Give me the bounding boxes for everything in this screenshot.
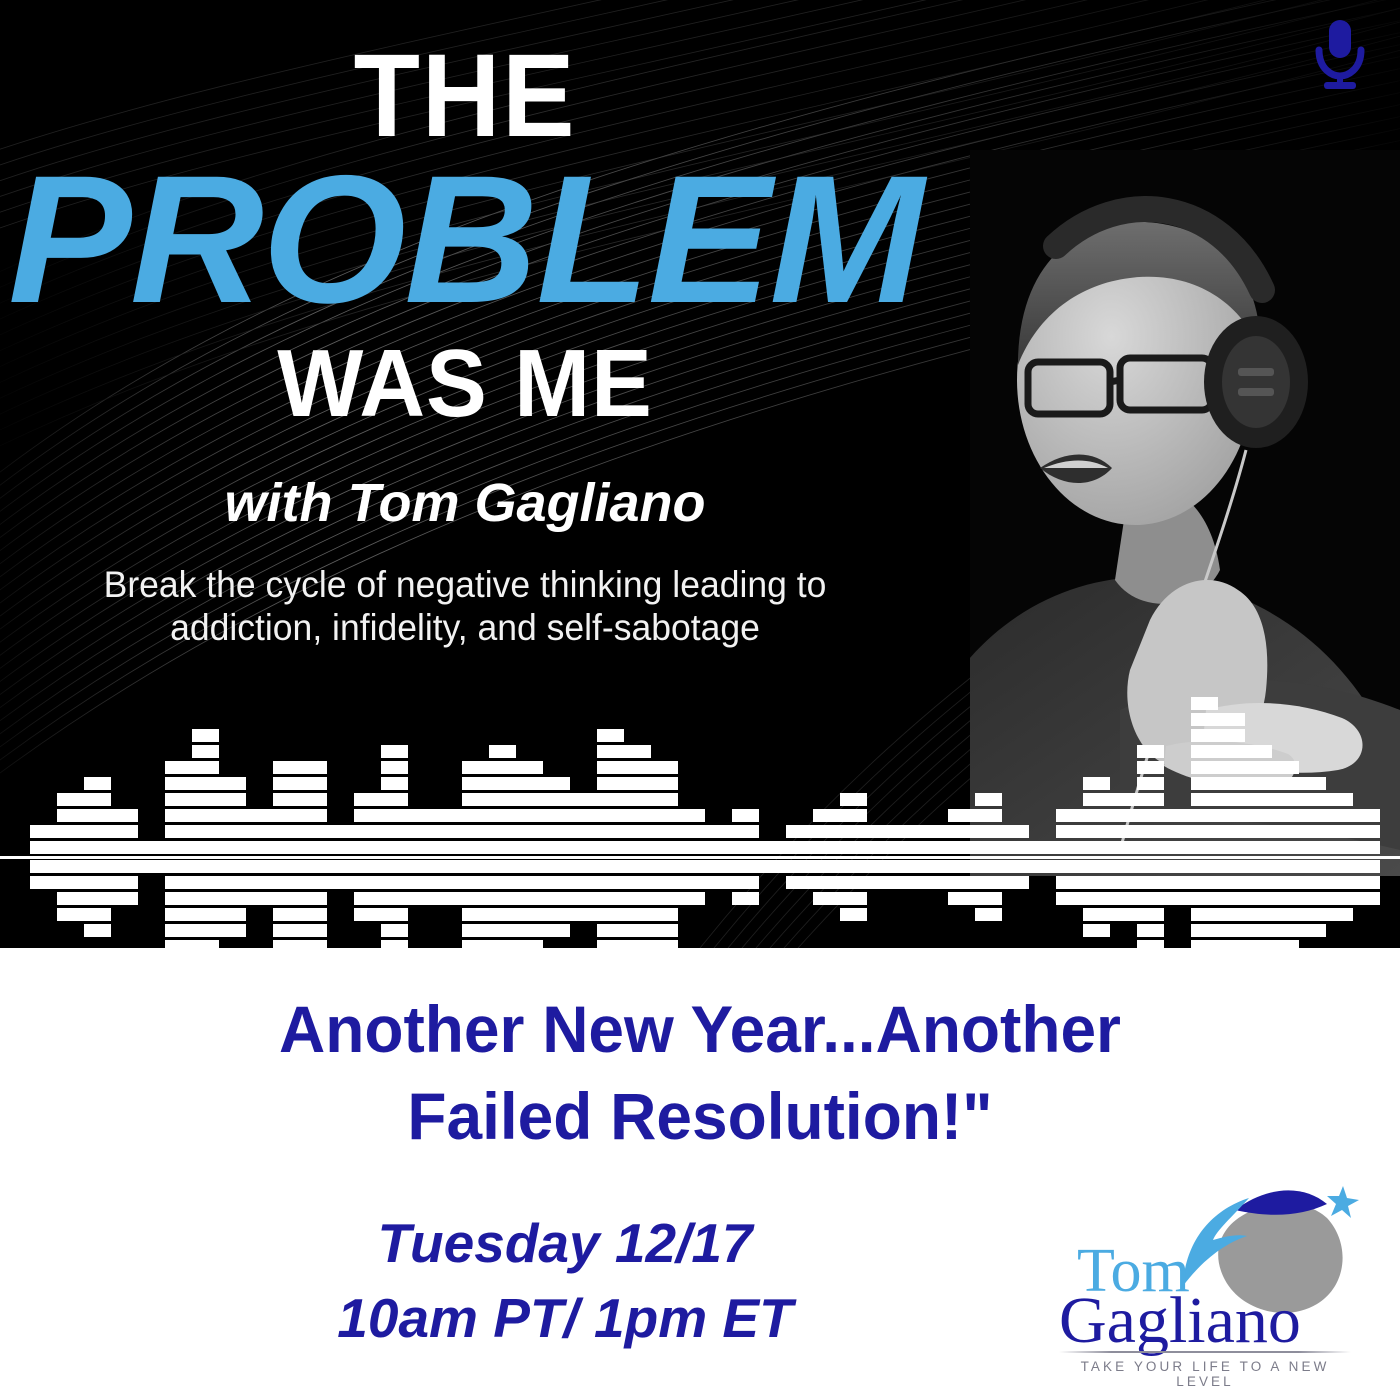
- waveform-cell: [597, 729, 624, 742]
- waveform-column: [867, 690, 894, 948]
- waveform-cell: [1191, 860, 1218, 873]
- waveform-cell: [192, 892, 219, 905]
- waveform-cell: [1218, 745, 1245, 758]
- waveform-cell: [84, 809, 111, 822]
- waveform-cell: [786, 825, 813, 838]
- waveform-cell: [489, 761, 516, 774]
- waveform-cell: [1218, 940, 1245, 948]
- waveform-cell: [975, 841, 1002, 854]
- waveform-cell: [84, 825, 111, 838]
- waveform-cell: [219, 841, 246, 854]
- waveform-cell: [300, 908, 327, 921]
- waveform-column: [246, 690, 273, 948]
- episode-title-line-2: Failed Resolution!": [79, 1073, 1321, 1160]
- waveform-cell: [651, 924, 678, 937]
- waveform-cell: [1299, 924, 1326, 937]
- waveform-cell: [543, 860, 570, 873]
- waveform-cell: [219, 777, 246, 790]
- waveform-column: [30, 690, 57, 948]
- waveform-cell: [192, 777, 219, 790]
- waveform-cell: [1326, 841, 1353, 854]
- waveform-cell: [1245, 745, 1272, 758]
- waveform-cell: [462, 892, 489, 905]
- waveform-cell: [624, 892, 651, 905]
- waveform-cell: [867, 841, 894, 854]
- waveform-cell: [462, 924, 489, 937]
- waveform-cell: [381, 940, 408, 948]
- waveform-cell: [273, 825, 300, 838]
- waveform-cell: [1083, 876, 1110, 889]
- waveform-cell: [327, 876, 354, 889]
- waveform-column: [597, 690, 624, 948]
- waveform-cell: [516, 940, 543, 948]
- waveform-cell: [57, 809, 84, 822]
- waveform-cell: [597, 825, 624, 838]
- waveform-cell: [948, 876, 975, 889]
- waveform-cell: [624, 761, 651, 774]
- waveform-cell: [813, 841, 840, 854]
- waveform-cell: [246, 876, 273, 889]
- waveform-cell: [1245, 777, 1272, 790]
- waveform-cell: [435, 892, 462, 905]
- waveform-cell: [192, 841, 219, 854]
- waveform-cell: [1083, 809, 1110, 822]
- waveform-cell: [192, 860, 219, 873]
- waveform-cell: [732, 809, 759, 822]
- waveform-cell: [300, 809, 327, 822]
- waveform-cell: [921, 860, 948, 873]
- waveform-cell: [111, 809, 138, 822]
- waveform-column: [219, 690, 246, 948]
- waveform-cell: [624, 924, 651, 937]
- waveform-cell: [1326, 860, 1353, 873]
- waveform-cell: [813, 809, 840, 822]
- waveform-cell: [678, 876, 705, 889]
- waveform-cell: [408, 876, 435, 889]
- waveform-cell: [1353, 860, 1380, 873]
- waveform-cell: [111, 892, 138, 905]
- waveform-cell: [570, 841, 597, 854]
- waveform-column: [786, 690, 813, 948]
- waveform-cell: [516, 761, 543, 774]
- waveform-cell: [1245, 876, 1272, 889]
- waveform-cell: [1272, 876, 1299, 889]
- waveform-cell: [1191, 745, 1218, 758]
- waveform-cell: [975, 876, 1002, 889]
- waveform-cell: [1326, 825, 1353, 838]
- waveform-cell: [840, 809, 867, 822]
- waveform-cell: [516, 825, 543, 838]
- waveform-cell: [1218, 777, 1245, 790]
- waveform-cell: [948, 841, 975, 854]
- waveform-cell: [948, 809, 975, 822]
- waveform-cell: [462, 809, 489, 822]
- waveform-cell: [624, 940, 651, 948]
- waveform-cell: [813, 892, 840, 905]
- waveform-cell: [1029, 860, 1056, 873]
- waveform-cell: [1245, 892, 1272, 905]
- waveform-cell: [354, 841, 381, 854]
- waveform-cell: [165, 793, 192, 806]
- waveform-cell: [192, 876, 219, 889]
- waveform-column: [678, 690, 705, 948]
- waveform-cell: [1299, 777, 1326, 790]
- waveform-column: [651, 690, 678, 948]
- waveform-cell: [462, 825, 489, 838]
- waveform-cell: [1137, 940, 1164, 948]
- waveform-cell: [354, 876, 381, 889]
- show-tagline-line-2: addiction, infidelity, and self-sabotage: [19, 607, 912, 650]
- episode-title-line-1: Another New Year...Another: [79, 986, 1321, 1073]
- waveform-cell: [300, 940, 327, 948]
- waveform-cell: [651, 809, 678, 822]
- waveform-cell: [1191, 825, 1218, 838]
- waveform-cell: [57, 793, 84, 806]
- waveform-cell: [192, 825, 219, 838]
- waveform-cell: [516, 876, 543, 889]
- waveform-cell: [165, 908, 192, 921]
- waveform-column: [1137, 690, 1164, 948]
- show-title-line-3: WAS ME: [23, 336, 907, 432]
- waveform-cell: [1218, 841, 1245, 854]
- waveform-cell: [165, 860, 192, 873]
- waveform-cell: [57, 841, 84, 854]
- show-tagline: Break the cycle of negative thinking lea…: [19, 564, 912, 650]
- waveform-cell: [219, 892, 246, 905]
- waveform-cell: [408, 825, 435, 838]
- waveform-cell: [1245, 809, 1272, 822]
- waveform-cell: [165, 777, 192, 790]
- audio-equalizer-waveform: [0, 690, 1400, 948]
- waveform-cell: [1191, 876, 1218, 889]
- waveform-cell: [489, 940, 516, 948]
- waveform-cell: [381, 825, 408, 838]
- waveform-cell: [1002, 841, 1029, 854]
- waveform-cell: [1083, 924, 1110, 937]
- waveform-cell: [462, 860, 489, 873]
- waveform-cell: [1137, 777, 1164, 790]
- waveform-cell: [1056, 841, 1083, 854]
- waveform-column: [1326, 690, 1353, 948]
- waveform-cell: [273, 940, 300, 948]
- waveform-cell: [381, 860, 408, 873]
- waveform-cell: [1326, 809, 1353, 822]
- waveform-cell: [354, 825, 381, 838]
- waveform-cell: [1299, 860, 1326, 873]
- waveform-column: [1218, 690, 1245, 948]
- waveform-cell: [975, 892, 1002, 905]
- waveform-cell: [624, 809, 651, 822]
- waveform-cell: [1110, 793, 1137, 806]
- waveform-column: [84, 690, 111, 948]
- waveform-cell: [462, 908, 489, 921]
- waveform-cell: [624, 876, 651, 889]
- waveform-cell: [1056, 876, 1083, 889]
- waveform-column: [813, 690, 840, 948]
- waveform-column: [462, 690, 489, 948]
- waveform-cell: [327, 860, 354, 873]
- waveform-cell: [543, 841, 570, 854]
- waveform-column: [1164, 690, 1191, 948]
- waveform-cell: [975, 860, 1002, 873]
- waveform-cell: [732, 841, 759, 854]
- waveform-cell: [1218, 713, 1245, 726]
- waveform-cell: [1164, 892, 1191, 905]
- waveform-cell: [543, 825, 570, 838]
- waveform-cell: [570, 876, 597, 889]
- waveform-cell: [543, 777, 570, 790]
- waveform-cell: [354, 892, 381, 905]
- waveform-cell: [705, 860, 732, 873]
- waveform-cell: [1191, 908, 1218, 921]
- waveform-cell: [165, 841, 192, 854]
- waveform-cell: [192, 940, 219, 948]
- show-title-line-2: PROBLEM: [0, 148, 939, 330]
- waveform-cell: [192, 745, 219, 758]
- waveform-cell: [165, 825, 192, 838]
- waveform-column: [381, 690, 408, 948]
- waveform-cell: [1272, 809, 1299, 822]
- waveform-cell: [84, 908, 111, 921]
- waveform-cell: [516, 908, 543, 921]
- waveform-cell: [1137, 924, 1164, 937]
- waveform-cell: [651, 841, 678, 854]
- waveform-cell: [1218, 924, 1245, 937]
- waveform-cell: [1056, 825, 1083, 838]
- waveform-cell: [165, 924, 192, 937]
- waveform-column: [111, 690, 138, 948]
- waveform-cell: [462, 761, 489, 774]
- waveform-cell: [1002, 825, 1029, 838]
- waveform-cell: [840, 841, 867, 854]
- waveform-cell: [894, 860, 921, 873]
- waveform-cell: [1110, 841, 1137, 854]
- waveform-cell: [1110, 876, 1137, 889]
- logo-divider: [1059, 1351, 1351, 1353]
- waveform-cell: [651, 860, 678, 873]
- waveform-cell: [1353, 809, 1380, 822]
- waveform-cell: [1245, 761, 1272, 774]
- waveform-cell: [1191, 809, 1218, 822]
- waveform-cell: [597, 809, 624, 822]
- waveform-cell: [1191, 924, 1218, 937]
- waveform-cell: [300, 777, 327, 790]
- waveform-cell: [1326, 892, 1353, 905]
- waveform-cell: [948, 860, 975, 873]
- waveform-column: [948, 690, 975, 948]
- waveform-column: [894, 690, 921, 948]
- waveform-cell: [462, 940, 489, 948]
- waveform-column: [300, 690, 327, 948]
- waveform-cell: [516, 809, 543, 822]
- waveform-cell: [1191, 793, 1218, 806]
- waveform-cell: [84, 793, 111, 806]
- waveform-cell: [921, 825, 948, 838]
- waveform-cell: [489, 825, 516, 838]
- waveform-cell: [219, 793, 246, 806]
- waveform-cell: [1353, 825, 1380, 838]
- waveform-cell: [516, 860, 543, 873]
- waveform-cell: [408, 841, 435, 854]
- waveform-cell: [1164, 860, 1191, 873]
- waveform-cell: [1299, 876, 1326, 889]
- waveform-cell: [138, 860, 165, 873]
- waveform-cell: [867, 825, 894, 838]
- waveform-cell: [624, 860, 651, 873]
- waveform-cell: [1353, 892, 1380, 905]
- waveform-cell: [624, 841, 651, 854]
- episode-time: 10am PT/ 1pm ET: [60, 1281, 1070, 1356]
- waveform-cell: [840, 908, 867, 921]
- waveform-cell: [678, 825, 705, 838]
- waveform-cell: [759, 841, 786, 854]
- waveform-cell: [192, 908, 219, 921]
- waveform-cell: [1245, 825, 1272, 838]
- waveform-cell: [300, 793, 327, 806]
- episode-title: Another New Year...Another Failed Resolu…: [79, 986, 1321, 1160]
- waveform-cell: [300, 924, 327, 937]
- waveform-cell: [1218, 809, 1245, 822]
- waveform-cell: [732, 860, 759, 873]
- waveform-cell: [1272, 761, 1299, 774]
- waveform-cell: [1137, 809, 1164, 822]
- waveform-cell: [867, 876, 894, 889]
- waveform-cell: [1218, 825, 1245, 838]
- waveform-cell: [84, 876, 111, 889]
- waveform-cell: [1083, 793, 1110, 806]
- waveform-cell: [597, 745, 624, 758]
- waveform-cell: [813, 860, 840, 873]
- waveform-cell: [1191, 841, 1218, 854]
- waveform-cell: [651, 793, 678, 806]
- waveform-cell: [30, 841, 57, 854]
- waveform-cell: [1245, 841, 1272, 854]
- waveform-cell: [111, 825, 138, 838]
- waveform-column: [1110, 690, 1137, 948]
- waveform-cell: [1110, 892, 1137, 905]
- waveform-cell: [354, 809, 381, 822]
- waveform-cell: [1353, 841, 1380, 854]
- waveform-cell: [489, 892, 516, 905]
- waveform-cell: [1272, 841, 1299, 854]
- waveform-cell: [597, 860, 624, 873]
- waveform-cell: [921, 841, 948, 854]
- waveform-cell: [1353, 876, 1380, 889]
- waveform-cell: [678, 860, 705, 873]
- waveform-cell: [840, 860, 867, 873]
- waveform-cell: [975, 908, 1002, 921]
- waveform-column: [543, 690, 570, 948]
- waveform-cell: [921, 876, 948, 889]
- show-tagline-line-1: Break the cycle of negative thinking lea…: [19, 564, 912, 607]
- waveform-cell: [462, 841, 489, 854]
- waveform-cell: [381, 745, 408, 758]
- waveform-column: [327, 690, 354, 948]
- waveform-cell: [1245, 940, 1272, 948]
- waveform-cell: [543, 924, 570, 937]
- waveform-cell: [408, 860, 435, 873]
- waveform-cell: [1137, 860, 1164, 873]
- waveform-cell: [354, 860, 381, 873]
- waveform-cell: [273, 777, 300, 790]
- waveform-cell: [435, 825, 462, 838]
- waveform-column: [624, 690, 651, 948]
- waveform-cell: [489, 924, 516, 937]
- waveform-cell: [1218, 729, 1245, 742]
- waveform-cell: [327, 825, 354, 838]
- waveform-column: [1299, 690, 1326, 948]
- waveform-cell: [246, 841, 273, 854]
- waveform-cell: [489, 841, 516, 854]
- waveform-cell: [1110, 825, 1137, 838]
- waveform-cell: [1137, 745, 1164, 758]
- waveform-cell: [1272, 860, 1299, 873]
- waveform-cell: [624, 777, 651, 790]
- waveform-cell: [678, 809, 705, 822]
- waveform-cell: [30, 860, 57, 873]
- waveform-cell: [1272, 825, 1299, 838]
- waveform-cell: [300, 892, 327, 905]
- waveform-cell: [1191, 761, 1218, 774]
- waveform-cell: [543, 892, 570, 905]
- waveform-cell: [300, 825, 327, 838]
- waveform-cell: [840, 793, 867, 806]
- waveform-cell: [30, 876, 57, 889]
- waveform-cell: [111, 860, 138, 873]
- waveform-cell: [1164, 841, 1191, 854]
- waveform-column: [1272, 690, 1299, 948]
- waveform-cell: [570, 892, 597, 905]
- waveform-cell: [381, 892, 408, 905]
- waveform-cell: [1083, 825, 1110, 838]
- waveform-cell: [516, 841, 543, 854]
- waveform-cell: [1083, 777, 1110, 790]
- waveform-cell: [516, 793, 543, 806]
- waveform-column: [1245, 690, 1272, 948]
- waveform-cell: [705, 876, 732, 889]
- waveform-column: [1191, 690, 1218, 948]
- waveform-column: [1083, 690, 1110, 948]
- waveform-column: [192, 690, 219, 948]
- waveform-cell: [1083, 860, 1110, 873]
- waveform-cell: [273, 793, 300, 806]
- waveform-cell: [300, 841, 327, 854]
- waveform-cell: [435, 841, 462, 854]
- waveform-column: [921, 690, 948, 948]
- waveform-column: [975, 690, 1002, 948]
- waveform-cell: [1110, 908, 1137, 921]
- waveform-cell: [273, 924, 300, 937]
- waveform-cell: [1299, 892, 1326, 905]
- waveform-cell: [705, 825, 732, 838]
- waveform-cell: [1137, 761, 1164, 774]
- waveform-cell: [840, 876, 867, 889]
- waveform-cell: [1110, 809, 1137, 822]
- podcast-promo-poster: THE PROBLEM WAS ME with Tom Gagliano Bre…: [0, 0, 1400, 1400]
- waveform-cell: [489, 860, 516, 873]
- waveform-cell: [435, 860, 462, 873]
- waveform-cell: [381, 841, 408, 854]
- waveform-column: [273, 690, 300, 948]
- waveform-cell: [1218, 892, 1245, 905]
- waveform-cell: [570, 809, 597, 822]
- waveform-cell: [1002, 860, 1029, 873]
- waveform-cell: [894, 841, 921, 854]
- waveform-cell: [489, 745, 516, 758]
- tom-gagliano-logo: Tom Gagliano TAKE YOUR LIFE TO A NEW LEV…: [1055, 1178, 1355, 1393]
- waveform-cell: [354, 908, 381, 921]
- waveform-cell: [840, 825, 867, 838]
